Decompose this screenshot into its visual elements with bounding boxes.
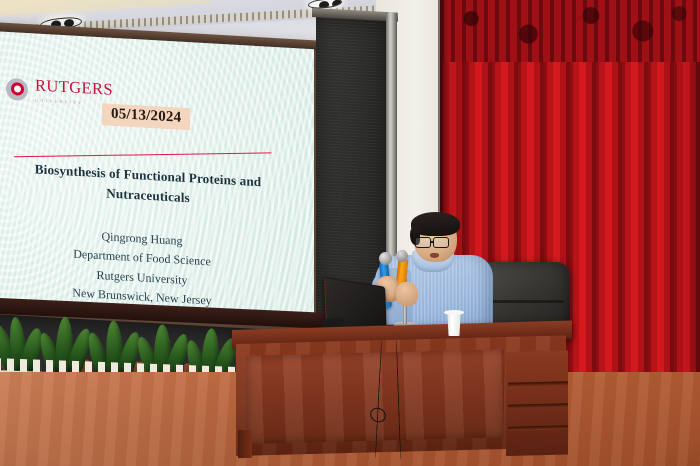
- rutgers-wordmark: RUTGERS: [35, 75, 113, 98]
- slide-title: Biosynthesis of Functional Proteins and …: [0, 157, 304, 214]
- rutgers-logo: RUTGERS UNIVERSITY: [6, 76, 113, 107]
- eyeglasses-right-lens: [433, 237, 449, 248]
- speaker-second-hand: [396, 282, 418, 306]
- rutgers-shield-icon: [6, 77, 28, 100]
- podium-front-panel: [246, 349, 504, 444]
- podium-leg: [238, 430, 252, 458]
- slide-date: 05/13/2024: [102, 103, 190, 130]
- speaker-mouth: [430, 253, 439, 258]
- paper-cup: [446, 312, 462, 336]
- slide-accent-rule: [14, 152, 271, 157]
- curtain-valance: [440, 0, 700, 62]
- presentation-slide: RUTGERS UNIVERSITY 05/13/2024 Biosynthes…: [0, 31, 314, 325]
- conference-presentation-photo: RUTGERS UNIVERSITY 05/13/2024 Biosynthes…: [0, 0, 700, 466]
- paper-cup-rim: [444, 310, 464, 315]
- eyeglasses-left-lens: [415, 237, 431, 248]
- eyeglasses-bridge: [430, 241, 434, 243]
